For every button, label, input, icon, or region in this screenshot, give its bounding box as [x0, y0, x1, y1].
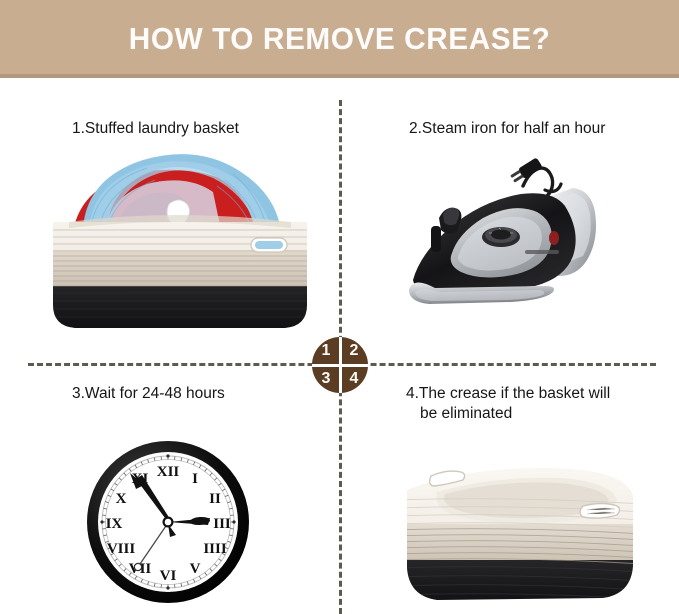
iron-temperature-dial — [482, 227, 520, 247]
page-title: HOW TO REMOVE CREASE? — [129, 23, 551, 56]
step-1-image — [45, 150, 315, 350]
badge-quadrant-1: 1 — [312, 337, 340, 365]
step-4-caption: 4.The crease if the basket willbe elimin… — [406, 384, 610, 424]
laundry-basket-full-illustration — [45, 150, 315, 350]
step-4-caption-line2: be eliminated — [406, 404, 610, 424]
step-4-caption-line1: 4.The crease if the basket will — [406, 385, 610, 402]
clock-numeral-10: X — [116, 491, 127, 507]
step-1-caption: 1.Stuffed laundry basket — [72, 119, 239, 139]
basket-handle — [251, 238, 287, 252]
step-3-caption: 3.Wait for 24-48 hours — [72, 384, 225, 404]
step-2-image — [395, 140, 635, 345]
clock-numeral-9: IX — [106, 516, 123, 532]
basket-body — [45, 215, 315, 336]
clock-numeral-5: V — [190, 561, 201, 577]
clock-numeral-8: VIII — [107, 541, 136, 557]
clock-numeral-2: II — [209, 491, 221, 507]
steam-iron-illustration — [395, 140, 635, 345]
quadrant-badge: 1 2 3 4 — [312, 337, 368, 393]
steps-grid: 1 2 3 4 1.Stuffed laundry basket 2.Steam… — [0, 78, 679, 614]
iron-indicator-light — [549, 231, 559, 245]
basket-handle-right — [580, 504, 620, 519]
wall-clock-illustration: XII I II III IIII V VI VII VIII IX X XI — [78, 433, 258, 611]
clock-center-cap — [164, 518, 173, 527]
iron-body — [413, 193, 576, 292]
badge-cross-horizontal — [312, 364, 368, 367]
iron-power-cord — [509, 157, 561, 196]
badge-quadrant-2: 2 — [340, 337, 368, 365]
clock-numeral-4: IIII — [203, 541, 227, 557]
badge-quadrant-3: 3 — [312, 365, 340, 393]
header-banner: HOW TO REMOVE CREASE? — [0, 0, 679, 78]
clock-numeral-3: III — [213, 516, 231, 532]
badge-quadrant-4: 4 — [340, 365, 368, 393]
laundry-basket-empty-illustration — [393, 438, 643, 614]
step-3-image: XII I II III IIII V VI VII VIII IX X XI — [78, 433, 258, 611]
step-4-image — [393, 438, 643, 614]
step-2-caption: 2.Steam iron for half an hour — [409, 119, 605, 139]
clock-numeral-1: I — [192, 471, 198, 487]
clock-numeral-6: VI — [160, 568, 177, 584]
clock-numeral-12: XII — [157, 464, 180, 480]
